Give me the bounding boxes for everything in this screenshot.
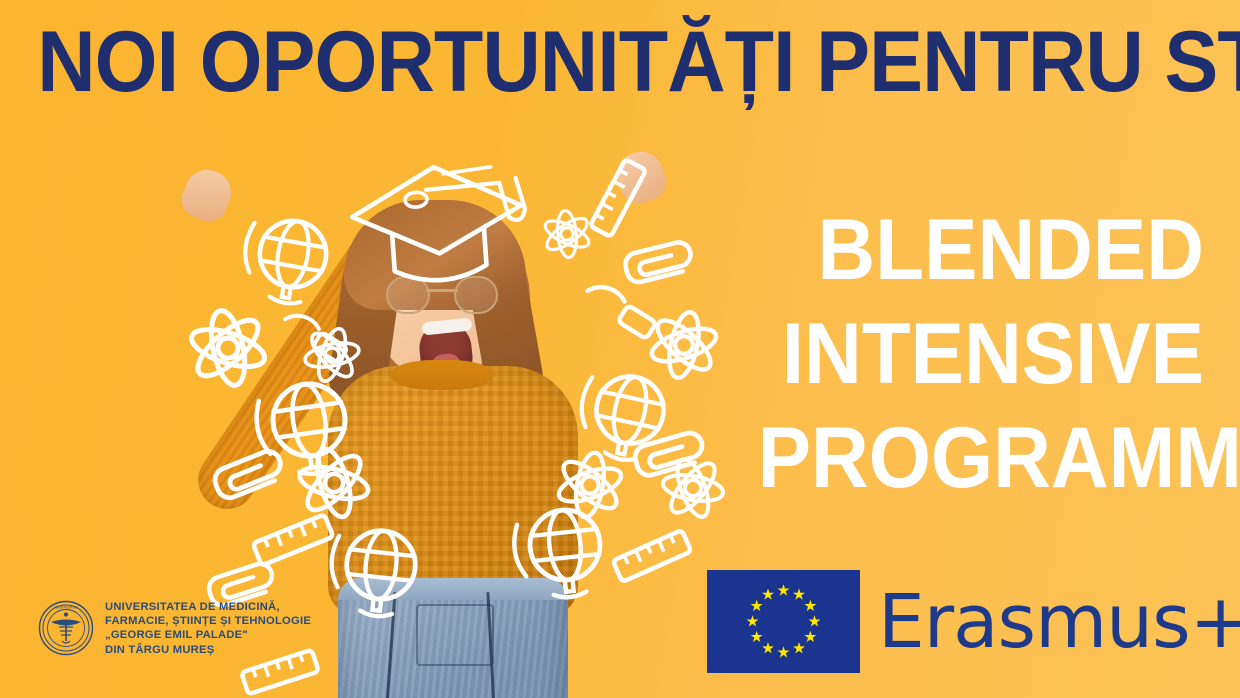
sweater-collar <box>390 360 494 390</box>
university-logo: UNIVERSITATEA UNIVERSITATEA DE MEDICINĂ,… <box>38 600 311 657</box>
glasses-icon <box>386 276 498 310</box>
erasmus-logo: Erasmus+ <box>707 570 1240 673</box>
jeans-waistband <box>338 578 568 600</box>
european-union-flag-icon <box>707 570 860 673</box>
glasses-bridge <box>426 289 458 292</box>
erasmus-wordmark: Erasmus+ <box>878 585 1240 659</box>
right-fist <box>611 146 670 208</box>
university-name: UNIVERSITATEA DE MEDICINĂ, FARMACIE, ȘTI… <box>105 600 311 657</box>
university-line-3: „GEORGE EMIL PALADE" <box>105 628 311 642</box>
poster: NOI OPORTUNITĂȚI PENTRU STUDENȚI BLENDED… <box>0 0 1240 698</box>
page-title: NOI OPORTUNITĂȚI PENTRU STUDENȚI <box>37 14 1203 110</box>
left-fist <box>176 163 237 227</box>
programme-line-3: PROGRAMMES <box>758 406 1204 510</box>
jeans-pocket <box>416 604 494 666</box>
glasses-left-lens <box>386 276 430 314</box>
programme-line-2: INTENSIVE <box>758 302 1204 406</box>
university-line-4: DIN TÂRGU MUREȘ <box>105 643 311 657</box>
university-seal-caduceus-icon: UNIVERSITATEA <box>38 600 94 656</box>
programme-line-1: BLENDED <box>758 198 1204 302</box>
programme-title: BLENDED INTENSIVE PROGRAMMES <box>724 198 1204 510</box>
glasses-right-lens <box>454 276 498 314</box>
svg-text:UNIVERSITATEA: UNIVERSITATEA <box>54 606 80 610</box>
university-line-1: UNIVERSITATEA DE MEDICINĂ, <box>105 600 311 614</box>
university-line-2: FARMACIE, ȘTIINȚE ȘI TEHNOLOGIE <box>105 614 311 628</box>
